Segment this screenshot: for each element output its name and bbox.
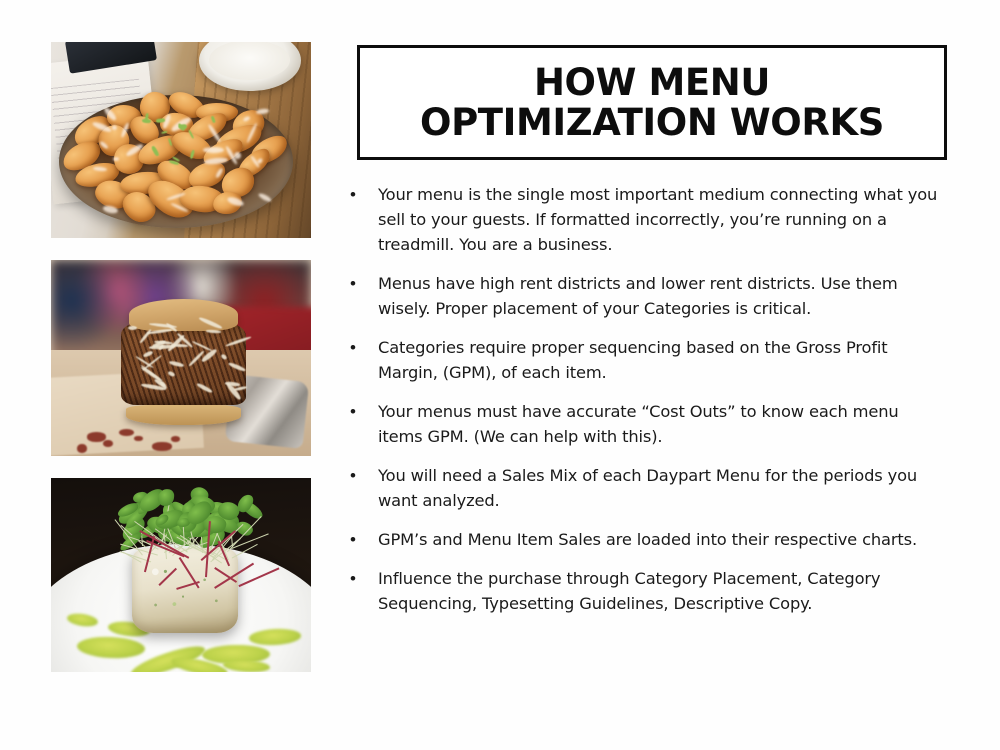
list-item-text: You will need a Sales Mix of each Daypar… xyxy=(378,463,946,513)
list-item-text: Menus have high rent districts and lower… xyxy=(378,271,946,321)
list-item-text: GPM’s and Menu Item Sales are loaded int… xyxy=(378,527,946,552)
bullet-point-icon: • xyxy=(346,271,378,296)
list-item: • Your menus must have accurate “Cost Ou… xyxy=(346,399,946,449)
bullet-point-icon: • xyxy=(346,399,378,424)
bullet-point-icon: • xyxy=(346,335,378,360)
pulled-pork-sandwich-photo xyxy=(51,260,311,456)
bullet-list: • Your menu is the single most important… xyxy=(346,182,946,630)
list-item-text: Your menu is the single most important m… xyxy=(378,182,946,257)
bullet-point-icon: • xyxy=(346,463,378,488)
slide-canvas: HOW MENU OPTIMIZATION WORKS • Your menu … xyxy=(0,0,1000,750)
list-item: • GPM’s and Menu Item Sales are loaded i… xyxy=(346,527,946,552)
bullet-point-icon: • xyxy=(346,566,378,591)
title-box: HOW MENU OPTIMIZATION WORKS xyxy=(357,45,947,160)
crab-cake-photo xyxy=(51,478,311,672)
bullet-point-icon: • xyxy=(346,182,378,207)
list-item: • You will need a Sales Mix of each Dayp… xyxy=(346,463,946,513)
list-item-text: Categories require proper sequencing bas… xyxy=(378,335,946,385)
list-item: • Categories require proper sequencing b… xyxy=(346,335,946,385)
list-item: • Your menu is the single most important… xyxy=(346,182,946,257)
page-title: HOW MENU OPTIMIZATION WORKS xyxy=(420,63,884,142)
bullet-point-icon: • xyxy=(346,527,378,552)
list-item: • Influence the purchase through Categor… xyxy=(346,566,946,616)
list-item: • Menus have high rent districts and low… xyxy=(346,271,946,321)
list-item-text: Influence the purchase through Category … xyxy=(378,566,946,616)
fried-cheese-curds-photo xyxy=(51,42,311,238)
list-item-text: Your menus must have accurate “Cost Outs… xyxy=(378,399,946,449)
